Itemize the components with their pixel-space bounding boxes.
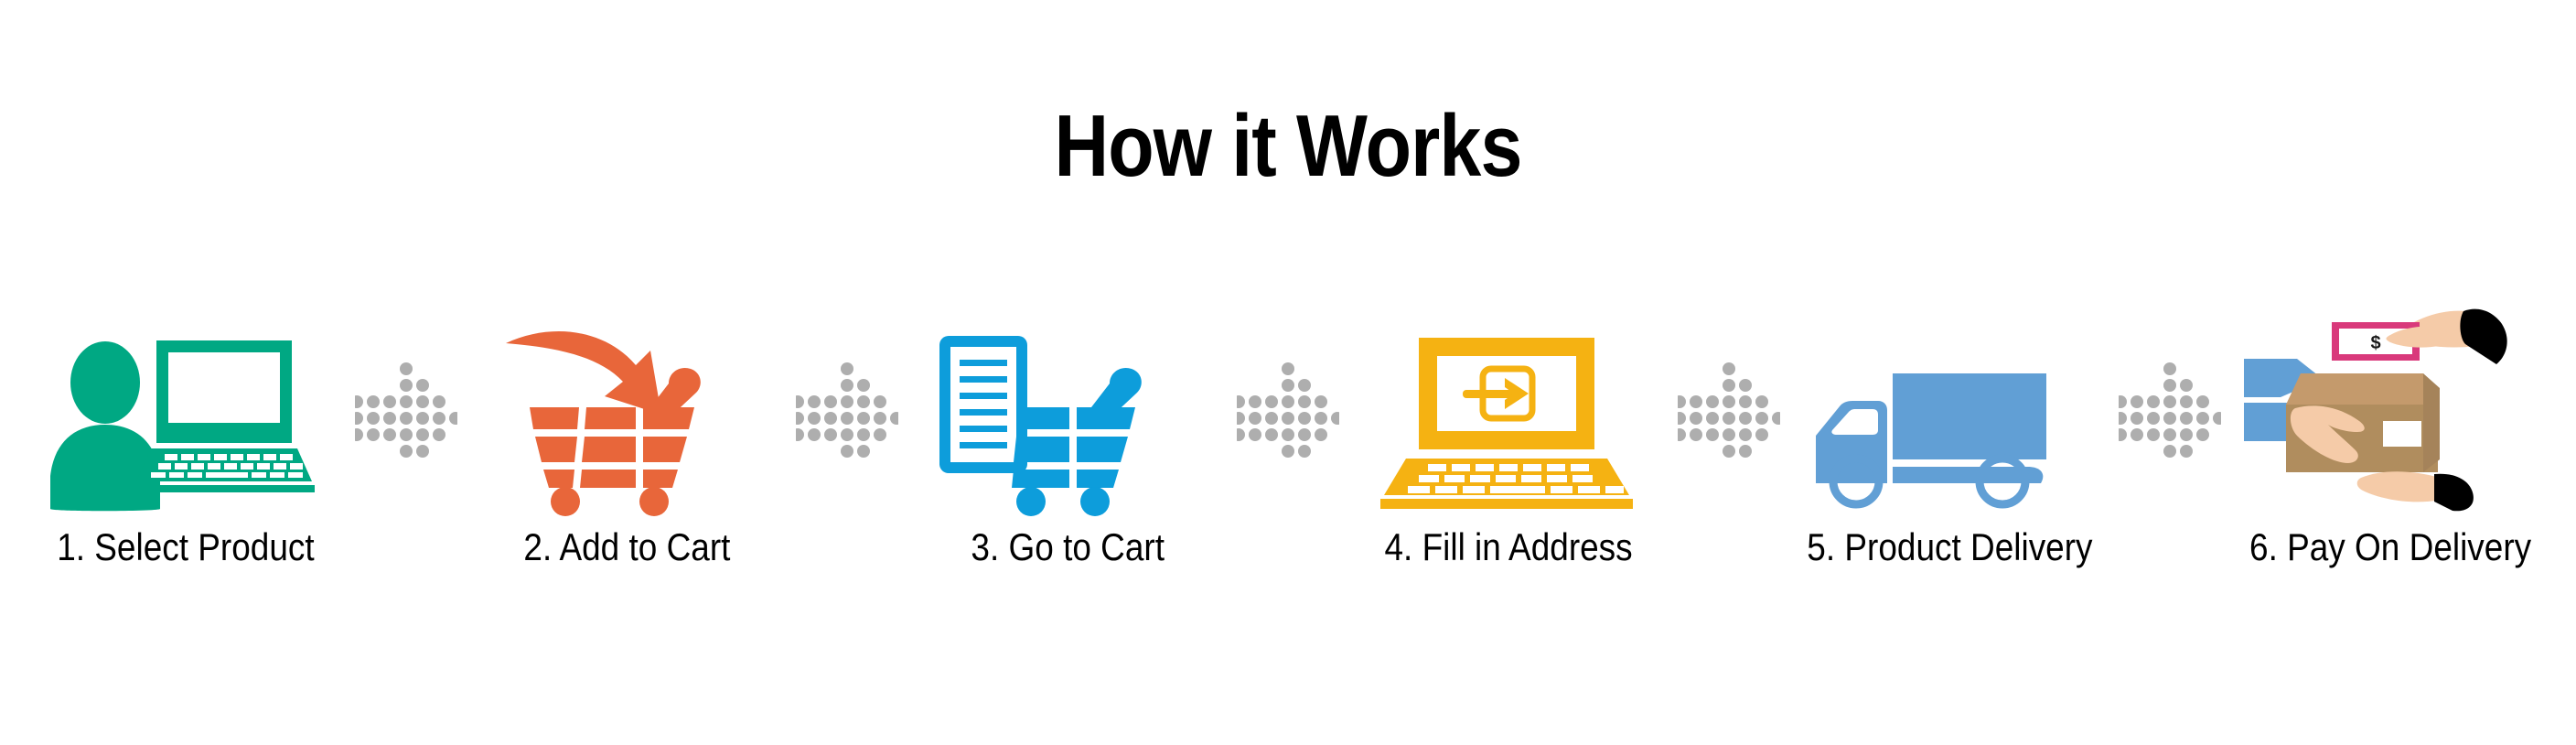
dotted-arrow-right-icon-4 <box>1678 302 1780 513</box>
steps-row: 1. Select Product <box>0 302 2576 632</box>
step-1-label: 1. Select Product <box>57 525 314 569</box>
step-1-select-product[interactable]: 1. Select Product <box>16 302 355 632</box>
step-2-add-to-cart[interactable]: 2. Add to Cart <box>457 302 796 632</box>
svg-text:$: $ <box>2370 333 2380 353</box>
dotted-arrow-right-icon-2 <box>796 302 898 513</box>
step-5-product-delivery[interactable]: 5. Product Delivery <box>1780 302 2119 632</box>
person-at-laptop-icon <box>16 302 355 513</box>
dotted-arrow-right-icon-5 <box>2119 302 2221 513</box>
document-and-cart-icon <box>898 302 1237 513</box>
step-3-label: 3. Go to Cart <box>971 525 1165 569</box>
shopping-cart-with-arrow-icon <box>457 302 796 513</box>
step-3-go-to-cart[interactable]: 3. Go to Cart <box>898 302 1237 632</box>
delivery-truck-icon <box>1780 302 2119 513</box>
page-title: How it Works <box>180 99 2396 194</box>
step-6-label: 6. Pay On Delivery <box>2249 525 2531 569</box>
hands-exchanging-box-and-cash-icon: $ <box>2221 302 2560 513</box>
dotted-arrow-right-icon-3 <box>1237 302 1339 513</box>
step-4-label: 4. Fill in Address <box>1384 525 1632 569</box>
how-it-works-infographic: How it Works <box>0 0 2576 745</box>
laptop-login-icon <box>1339 302 1678 513</box>
dotted-arrow-right-icon-1 <box>355 302 457 513</box>
step-5-label: 5. Product Delivery <box>1807 525 2092 569</box>
step-2-label: 2. Add to Cart <box>523 525 730 569</box>
step-6-pay-on-delivery[interactable]: $ <box>2221 302 2560 632</box>
step-4-fill-in-address[interactable]: 4. Fill in Address <box>1339 302 1678 632</box>
